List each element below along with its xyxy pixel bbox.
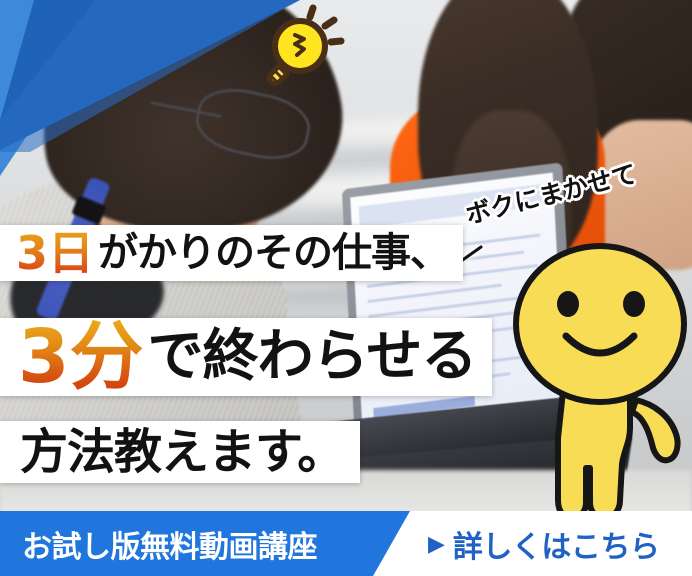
headline-line-1: 3日 がかりのその仕事、 [0,225,463,281]
headline-accent-2: 3分 [18,320,144,394]
cta-bar[interactable]: お試し版無料動画講座 ▶ 詳しくはこちら [0,511,692,576]
cta-details-link[interactable]: ▶ 詳しくはこちら [428,511,659,576]
cta-link-label: 詳しくはこちら [453,522,660,566]
headline-text-2: で終わらせる [148,329,477,385]
headline-text-3: 方法教えます。 [20,428,344,476]
headline-line-2: 3分 で終わらせる [0,318,492,396]
play-arrow-icon: ▶ [428,533,445,555]
headline-line-3: 方法教えます。 [0,421,360,483]
headline-accent-1: 3日 [16,230,94,276]
promo-banner: ボクにまかせて 3日 がかりのその仕事、 3分 で終わらせ [0,0,692,576]
cta-badge-label: お試し版無料動画講座 [22,522,317,566]
lightbulb-icon [255,4,347,86]
headline-text-1: がかりのその仕事、 [98,233,449,273]
yellow-mascot [494,232,692,532]
cta-badge[interactable]: お試し版無料動画講座 [0,511,410,576]
